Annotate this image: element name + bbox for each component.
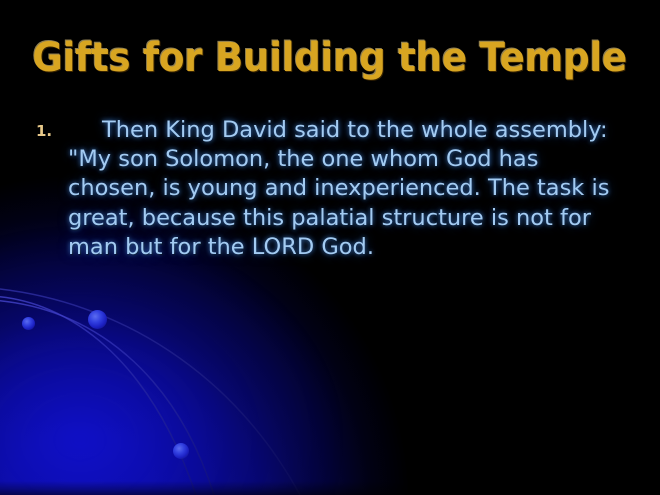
- blue-soft-halo: [0, 230, 340, 495]
- list-item-number: 1.: [36, 122, 52, 140]
- list-item-text: Then King David said to the whole assemb…: [68, 116, 630, 262]
- slide-body: 1. Then King David said to the whole ass…: [30, 116, 630, 262]
- arc-middle: [0, 300, 214, 495]
- arc-inner: [0, 296, 196, 495]
- decorative-dot-lower: [173, 443, 189, 459]
- slide-title: Gifts for Building the Temple: [33, 34, 628, 82]
- decorative-dot-large: [88, 310, 107, 329]
- decorative-dot-small: [22, 317, 35, 330]
- arc-outer: [0, 288, 300, 495]
- bottom-shadow-band: [0, 481, 660, 495]
- list-item: 1. Then King David said to the whole ass…: [30, 116, 630, 262]
- title-area: Gifts for Building the Temple: [0, 34, 660, 82]
- presentation-slide: Gifts for Building the Temple 1. Then Ki…: [0, 0, 660, 495]
